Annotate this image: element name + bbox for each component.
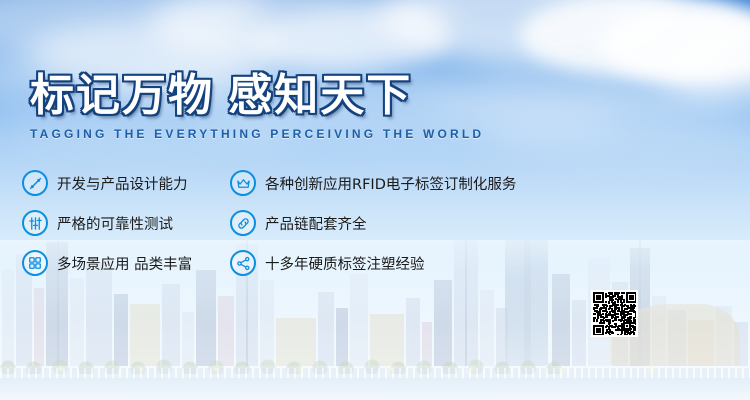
feature-row: 多场景应用 品类丰富 十多年硬质标签注塑经验 xyxy=(22,250,582,276)
share-icon xyxy=(230,250,256,276)
feature-label: 十多年硬质标签注塑经验 xyxy=(265,253,425,274)
crown-icon xyxy=(230,170,256,196)
grid-icon xyxy=(22,250,48,276)
feature-item-supply-chain: 产品链配套齐全 xyxy=(230,210,582,236)
promo-banner: 标记万物 感知天下 TAGGING THE EVERYTHING PERCEIV… xyxy=(0,0,750,400)
feature-item-development: 开发与产品设计能力 xyxy=(22,170,230,196)
feature-label: 多场景应用 品类丰富 xyxy=(57,253,192,274)
feature-item-experience: 十多年硬质标签注塑经验 xyxy=(230,250,582,276)
feature-label: 各种创新应用RFID电子标签订制化服务 xyxy=(265,173,516,194)
feature-item-rfid-service: 各种创新应用RFID电子标签订制化服务 xyxy=(230,170,582,196)
feature-label: 严格的可靠性测试 xyxy=(57,213,173,234)
feature-label: 产品链配套齐全 xyxy=(265,213,367,234)
link-icon xyxy=(230,210,256,236)
headline-block: 标记万物 感知天下 TAGGING THE EVERYTHING PERCEIV… xyxy=(30,74,484,141)
feature-item-applications: 多场景应用 品类丰富 xyxy=(22,250,230,276)
qr-code[interactable] xyxy=(591,290,638,337)
feature-item-reliability-test: 严格的可靠性测试 xyxy=(22,210,230,236)
headline-english: TAGGING THE EVERYTHING PERCEIVING THE WO… xyxy=(30,127,484,141)
headline-chinese: 标记万物 感知天下 xyxy=(30,74,484,118)
tools-icon xyxy=(22,170,48,196)
feature-label: 开发与产品设计能力 xyxy=(57,173,188,194)
feature-row: 严格的可靠性测试 产品链配套齐全 xyxy=(22,210,582,236)
feature-list: 开发与产品设计能力 各种创新应用RFID电子标签订制化服务 xyxy=(22,170,582,290)
qr-code-canvas xyxy=(593,292,636,335)
feature-row: 开发与产品设计能力 各种创新应用RFID电子标签订制化服务 xyxy=(22,170,582,196)
sliders-icon xyxy=(22,210,48,236)
waterfront xyxy=(0,378,750,400)
